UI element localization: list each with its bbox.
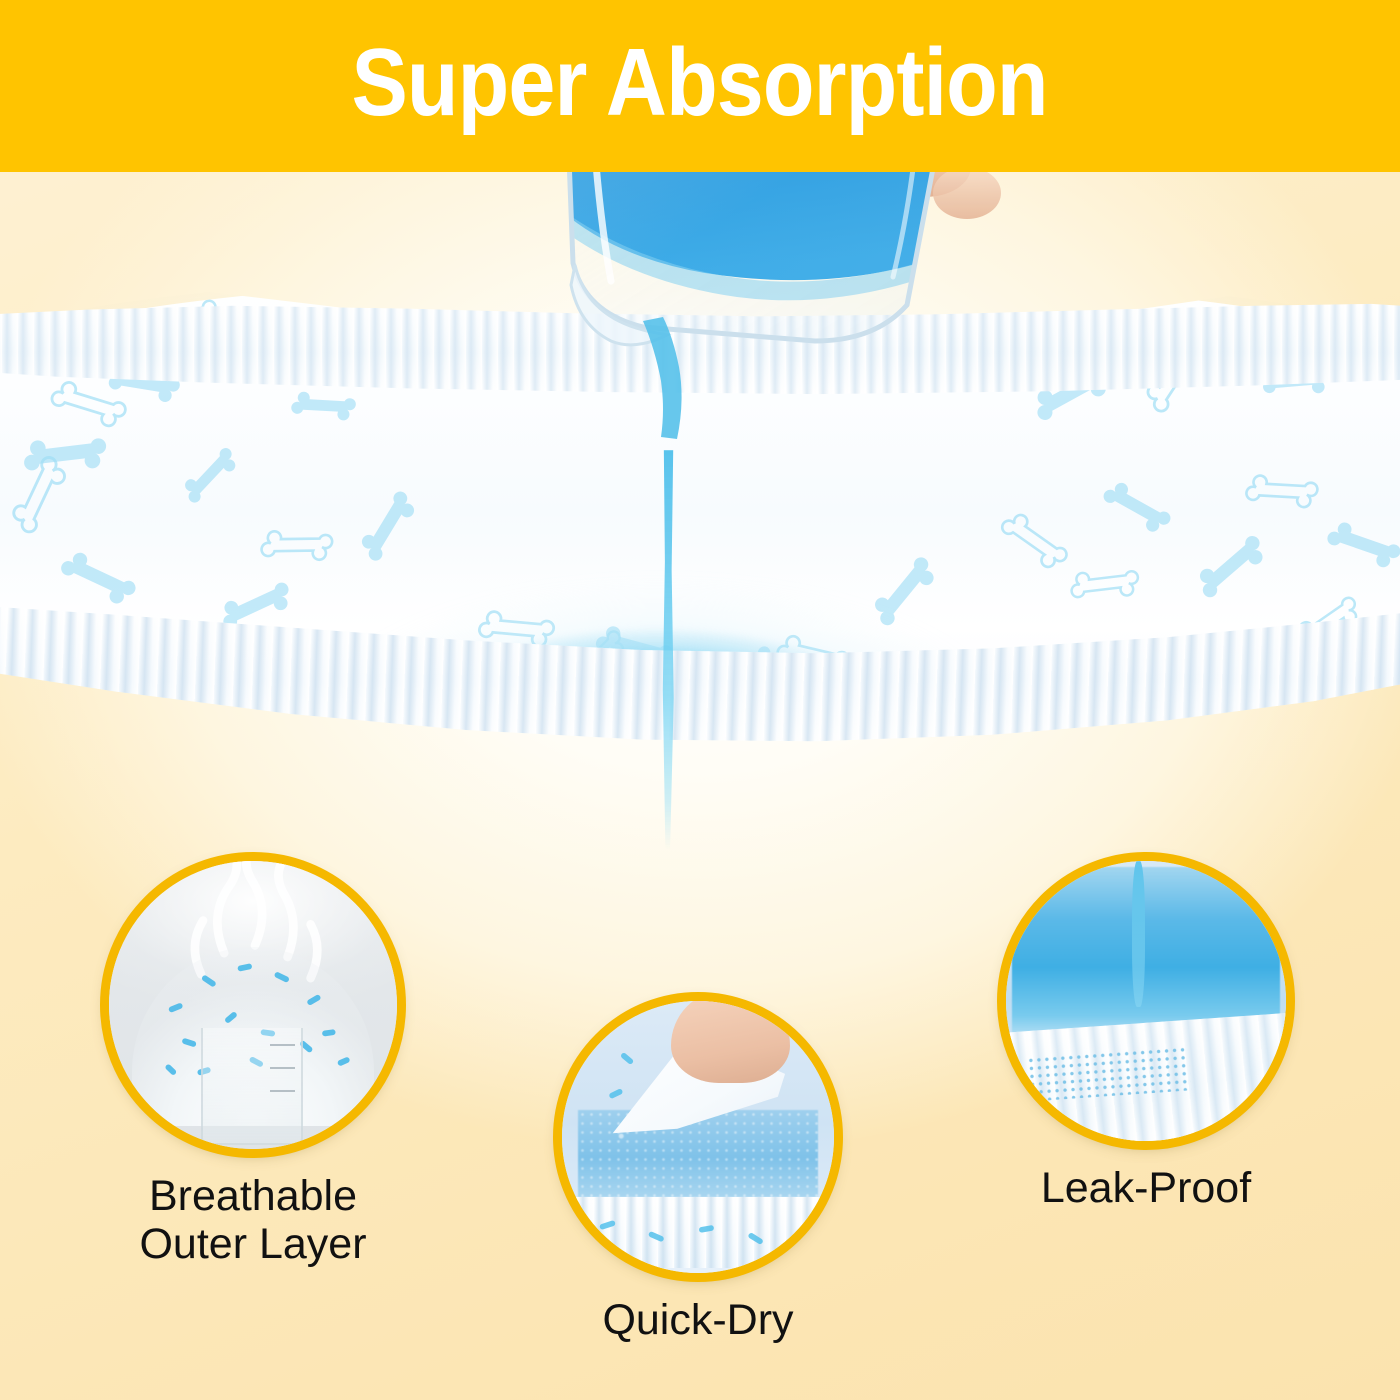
feature-quickdry-circle[interactable]	[553, 992, 843, 1282]
breathable-outer-layer-photo	[109, 861, 397, 1149]
feature-leakproof-label: Leak-Proof	[997, 1164, 1295, 1212]
page-title: Super Absorption	[352, 35, 1048, 137]
beaker-illustration	[515, 145, 1015, 475]
bone-specks	[562, 1001, 834, 1273]
hero-image	[0, 150, 1400, 890]
feature-quickdry[interactable]: Quick-Dry	[553, 992, 843, 1344]
beaker-glass-wall	[567, 145, 945, 341]
feature-breathable[interactable]: Breathable Outer Layer	[100, 852, 406, 1268]
header-banner: Super Absorption	[0, 0, 1400, 172]
leak-proof-photo	[1006, 861, 1286, 1141]
measuring-beaker	[201, 1028, 303, 1145]
saturated-core	[1012, 867, 1281, 1041]
feature-leakproof[interactable]: Leak-Proof	[997, 852, 1295, 1212]
feature-quickdry-label: Quick-Dry	[553, 1296, 843, 1344]
feature-leakproof-circle[interactable]	[997, 852, 1295, 1150]
product-feature-graphic: Super Absorption	[0, 0, 1400, 1400]
feature-breathable-label: Breathable Outer Layer	[100, 1172, 406, 1268]
quick-dry-photo	[562, 1001, 834, 1273]
glass-beaker	[515, 145, 1015, 475]
pouring-liquid-stream	[1132, 861, 1145, 1007]
feature-breathable-circle[interactable]	[100, 852, 406, 1158]
spout-pour	[643, 317, 682, 439]
